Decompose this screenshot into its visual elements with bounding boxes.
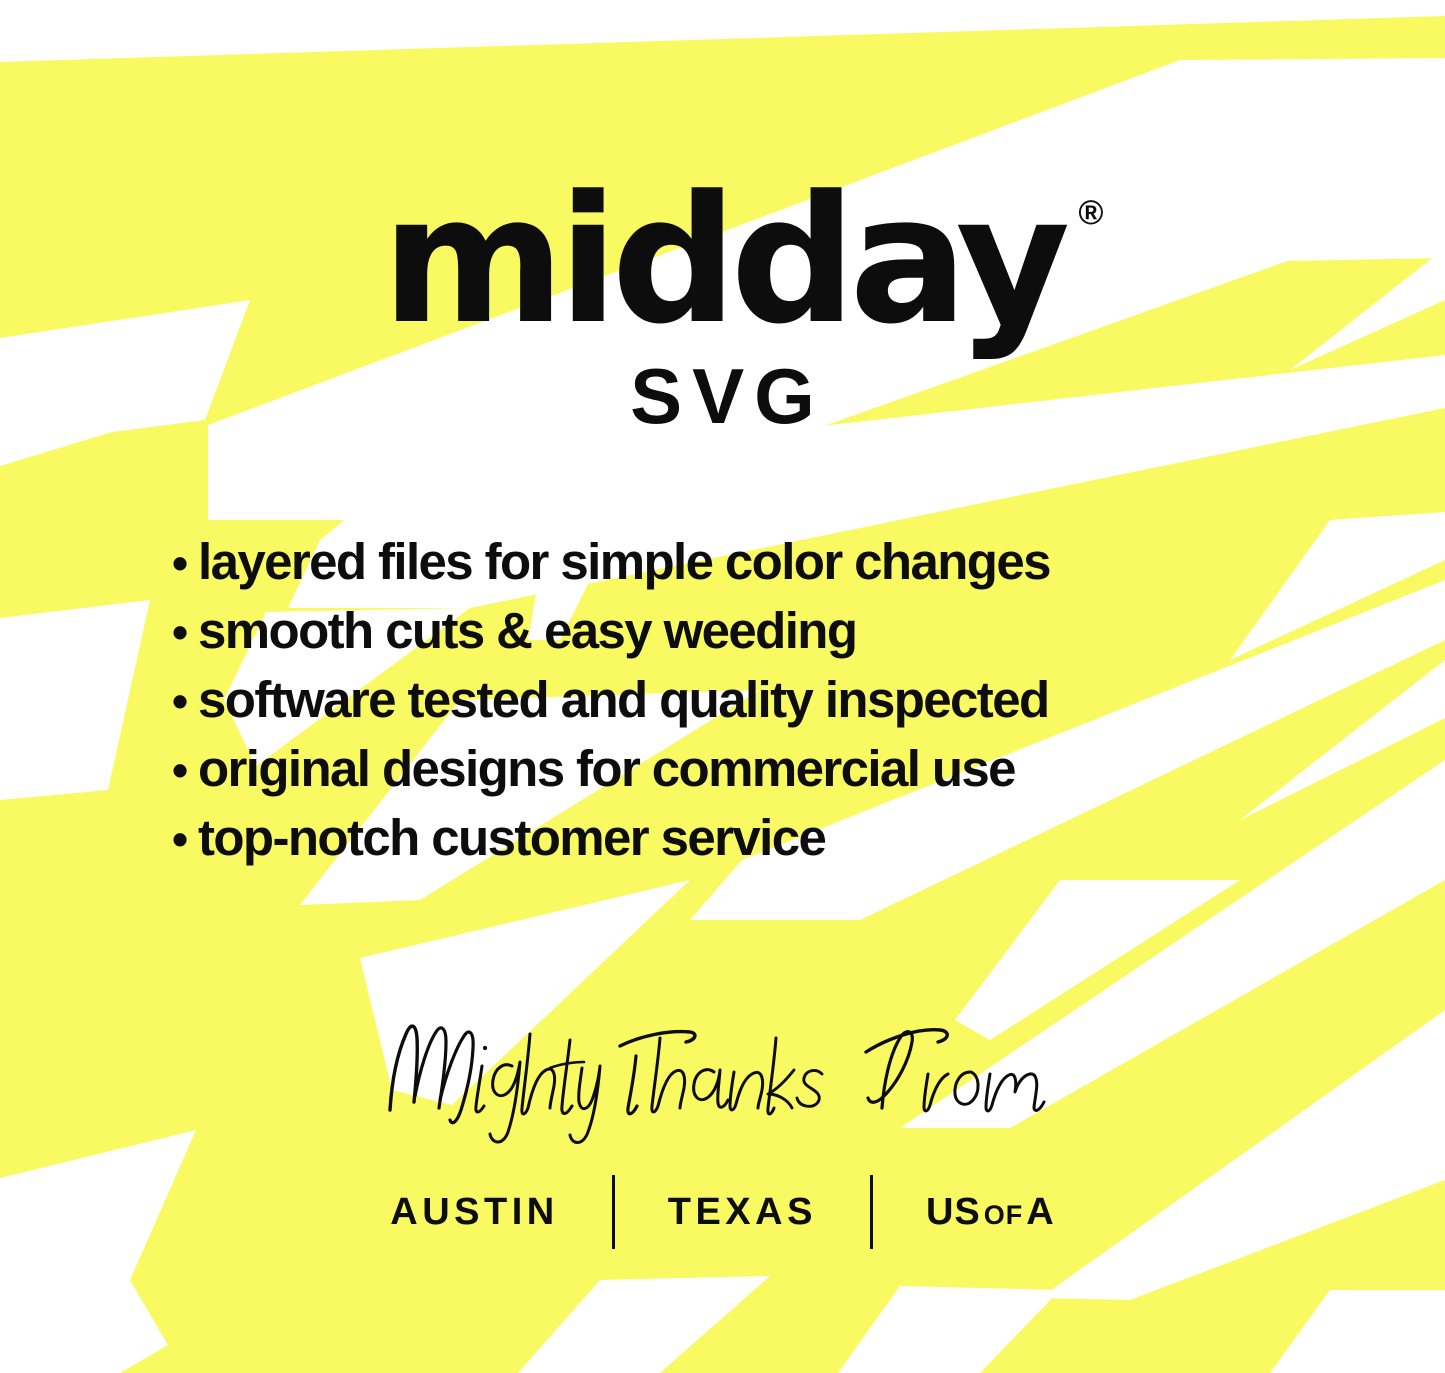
location-strip: AUSTIN TEXAS USOFA [0, 1172, 1445, 1252]
location-city: AUSTIN [390, 1193, 558, 1231]
bullet-dot-icon: • [172, 609, 198, 655]
location-country-tail: A [1026, 1191, 1054, 1233]
list-item-label: smooth cuts & easy weeding [198, 605, 856, 656]
list-item: • original designs for commercial use [172, 743, 1352, 812]
greeting-card-canvas: midday® SVG • layered files for simple c… [0, 0, 1445, 1373]
registered-trademark-icon: ® [1078, 196, 1103, 230]
list-item: • layered files for simple color changes [172, 536, 1352, 605]
list-item-label: layered files for simple color changes [198, 536, 1050, 587]
bullet-dot-icon: • [172, 678, 198, 724]
brand-wordmark-text: midday [382, 158, 1064, 363]
location-country-lead: US [926, 1191, 981, 1233]
bullet-dot-icon: • [172, 816, 198, 862]
list-item: • smooth cuts & easy weeding [172, 605, 1352, 674]
location-state: TEXAS [668, 1193, 817, 1231]
list-item: • top-notch customer service [172, 812, 1352, 881]
list-item-label: original designs for commercial use [198, 743, 1015, 794]
signature-script [0, 1004, 1445, 1154]
location-country: USOFA [926, 1193, 1055, 1231]
list-item-label: software tested and quality inspected [198, 674, 1049, 725]
signature-artwork [378, 1004, 1068, 1144]
brand-logo-block: midday® SVG [0, 178, 1445, 435]
list-item: • software tested and quality inspected [172, 674, 1352, 743]
brand-wordmark: midday® [382, 178, 1064, 343]
feature-list: • layered files for simple color changes… [172, 536, 1352, 881]
location-country-mid: OF [981, 1200, 1027, 1230]
bullet-dot-icon: • [172, 540, 198, 586]
location-divider [612, 1175, 615, 1249]
brand-subtitle: SVG [0, 357, 1445, 435]
bullet-dot-icon: • [172, 747, 198, 793]
location-divider [870, 1175, 873, 1249]
list-item-label: top-notch customer service [198, 812, 825, 863]
